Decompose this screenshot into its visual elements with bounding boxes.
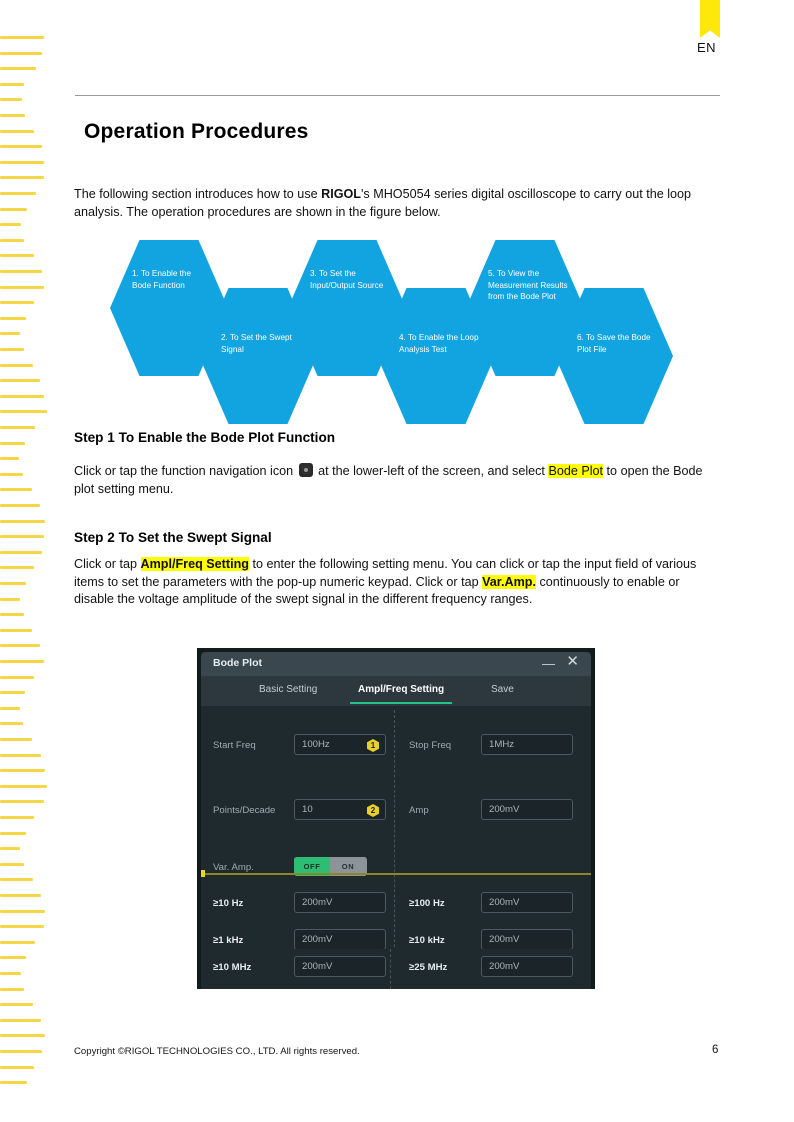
footer-page-number: 6 [712, 1044, 718, 1056]
edge-rule [0, 98, 22, 101]
brand-name: RIGOL [321, 187, 361, 201]
edge-rule [0, 1066, 34, 1069]
edge-rule [0, 878, 33, 881]
edge-rule [0, 239, 24, 242]
edge-rule [0, 785, 47, 788]
range-row-overflow-panel: ≥10 MHz 200mV ≥25 MHz 200mV [201, 949, 591, 989]
input-points-per-decade[interactable]: 10 2 [294, 799, 386, 820]
step2-highlight-ampl-freq-setting: Ampl/Freq Setting [141, 557, 249, 571]
label-range-100hz: ≥100 Hz [409, 898, 445, 909]
flow-step-6-label: 6. To Save the Bode Plot File [577, 332, 657, 355]
edge-rule [0, 410, 47, 413]
label-var-amp: Var. Amp. [213, 862, 254, 873]
step2-heading: Step 2 To Set the Swept Signal [74, 530, 272, 545]
value-range-25mhz: 200mV [489, 961, 519, 972]
edge-rule [0, 332, 20, 335]
edge-rule [0, 566, 34, 569]
language-label: EN [697, 40, 716, 55]
badge-1: 1 [367, 739, 379, 752]
edge-rule [0, 442, 25, 445]
edge-rule [0, 613, 24, 616]
edge-rule [0, 520, 45, 523]
edge-rule [0, 130, 34, 133]
edge-rule [0, 1081, 27, 1084]
edge-rule [0, 769, 45, 772]
label-range-1khz: ≥1 kHz [213, 935, 243, 946]
flow-step-2-label: 2. To Set the Swept Signal [221, 332, 301, 355]
input-range-1khz[interactable]: 200mV [294, 929, 386, 950]
flow-step-3-label: 3. To Set the Input/Output Source [310, 268, 390, 291]
intro-paragraph: The following section introduces how to … [74, 186, 722, 221]
edge-rule [0, 1019, 41, 1022]
edge-rule [0, 956, 26, 959]
value-range-10mhz: 200mV [302, 961, 332, 972]
page-title: Operation Procedures [84, 120, 309, 144]
function-navigation-icon [299, 463, 313, 477]
badge-2: 2 [367, 804, 379, 817]
edge-rule [0, 551, 42, 554]
edge-rule [0, 816, 34, 819]
edge-rule [0, 738, 32, 741]
footer-copyright: Copyright ©RIGOL TECHNOLOGIES CO., LTD. … [74, 1046, 360, 1057]
dialog-title: Bode Plot [213, 657, 262, 669]
edge-rule [0, 754, 41, 757]
edge-rule [0, 707, 20, 710]
edge-rule [0, 629, 32, 632]
flow-step-1-label: 1. To Enable the Bode Function [132, 268, 212, 291]
label-amp: Amp [409, 805, 429, 816]
language-tab-ribbon [700, 0, 720, 38]
step1-paragraph: Click or tap the function navigation ico… [74, 463, 722, 498]
edge-rule [0, 598, 20, 601]
input-range-100hz[interactable]: 200mV [481, 892, 573, 913]
edge-rule [0, 192, 36, 195]
edge-rule [0, 301, 34, 304]
edge-rule [0, 114, 25, 117]
bode-plot-dialog-screenshot: Bode Plot — ✕ Basic Setting Ampl/Freq Se… [197, 648, 595, 989]
bode-plot-dialog: Bode Plot — ✕ Basic Setting Ampl/Freq Se… [201, 652, 591, 985]
dialog-body: Start Freq 100Hz 1 Stop Freq 1MHz Points… [201, 706, 591, 985]
tab-basic-setting[interactable]: Basic Setting [259, 684, 317, 695]
column-divider-bottom [390, 949, 392, 989]
value-points-per-decade: 10 [302, 804, 313, 815]
edge-rule [0, 847, 20, 850]
label-stop-freq: Stop Freq [409, 740, 451, 751]
edge-rule [0, 52, 42, 55]
step2-text-a: Click or tap [74, 557, 141, 571]
edge-rule [0, 473, 23, 476]
edge-rule [0, 988, 24, 991]
edge-rule [0, 504, 40, 507]
flow-step-5-label: 5. To View the Measurement Results from … [488, 268, 568, 303]
step1-text-a: Click or tap the function navigation ico… [74, 464, 297, 478]
input-range-10mhz[interactable]: 200mV [294, 956, 386, 977]
edge-rule [0, 941, 35, 944]
edge-rule [0, 223, 21, 226]
label-points-per-decade: Points/Decade [213, 805, 275, 816]
value-start-freq: 100Hz [302, 739, 330, 750]
edge-rule [0, 161, 44, 164]
edge-rule [0, 286, 44, 289]
label-range-10hz: ≥10 Hz [213, 898, 243, 909]
edge-rule [0, 972, 21, 975]
value-range-1khz: 200mV [302, 934, 332, 945]
edge-rule [0, 894, 41, 897]
edge-rule [0, 395, 44, 398]
edge-rule [0, 644, 40, 647]
step1-highlight-bode-plot: Bode Plot [548, 464, 603, 478]
edge-rule [0, 254, 34, 257]
edge-rule [0, 488, 32, 491]
label-range-25mhz: ≥25 MHz [409, 962, 447, 973]
decorative-edge-rules [0, 0, 60, 1122]
tab-save[interactable]: Save [491, 684, 514, 695]
edge-rule [0, 36, 44, 39]
edge-rule [0, 426, 35, 429]
step1-text-b: at the lower-left of the screen, and sel… [315, 464, 549, 478]
operation-procedure-flow-diagram: 1. To Enable the Bode Function 2. To Set… [110, 236, 710, 396]
label-range-10khz: ≥10 kHz [409, 935, 445, 946]
value-amp: 200mV [489, 804, 519, 815]
edge-rule [0, 722, 23, 725]
edge-rule [0, 925, 44, 928]
step2-highlight-var-amp: Var.Amp. [482, 575, 536, 589]
intro-text-a: The following section introduces how to … [74, 187, 321, 201]
input-start-freq[interactable]: 100Hz 1 [294, 734, 386, 755]
label-start-freq: Start Freq [213, 740, 256, 751]
dialog-titlebar: Bode Plot — ✕ [201, 652, 591, 676]
edge-rule [0, 83, 24, 86]
step2-paragraph: Click or tap Ampl/Freq Setting to enter … [74, 556, 722, 609]
edge-rule [0, 1050, 42, 1053]
input-stop-freq[interactable]: 1MHz [481, 734, 573, 755]
edge-rule [0, 208, 27, 211]
close-icon[interactable]: ✕ [566, 654, 579, 669]
edge-rule [0, 457, 19, 460]
value-range-10hz: 200mV [302, 897, 332, 908]
edge-rule [0, 364, 33, 367]
value-range-100hz: 200mV [489, 897, 519, 908]
edge-rule [0, 910, 45, 913]
input-range-25mhz[interactable]: 200mV [481, 956, 573, 977]
edge-rule [0, 676, 34, 679]
edge-rule [0, 1003, 33, 1006]
step1-heading: Step 1 To Enable the Bode Plot Function [74, 430, 335, 445]
value-stop-freq: 1MHz [489, 739, 514, 750]
minimize-icon[interactable]: — [542, 656, 555, 671]
edge-rule [0, 379, 40, 382]
flow-step-4-label: 4. To Enable the Loop Analysis Test [399, 332, 479, 355]
edge-rule [0, 800, 44, 803]
edge-rule [0, 582, 26, 585]
dialog-tab-bar: Basic Setting Ampl/Freq Setting Save [201, 676, 591, 706]
column-divider [394, 710, 396, 982]
edge-rule [0, 67, 36, 70]
edge-rule [0, 691, 25, 694]
edge-rule [0, 176, 44, 179]
edge-rule [0, 832, 26, 835]
channel-1-trace-line [201, 873, 591, 875]
channel-1-marker [201, 870, 205, 877]
input-range-10hz[interactable]: 200mV [294, 892, 386, 913]
label-range-10mhz: ≥10 MHz [213, 962, 251, 973]
edge-rule [0, 863, 24, 866]
header-divider [75, 95, 720, 96]
edge-rule [0, 145, 42, 148]
edge-rule [0, 1034, 45, 1037]
input-amp[interactable]: 200mV [481, 799, 573, 820]
tab-ampl-freq-setting[interactable]: Ampl/Freq Setting [358, 684, 444, 695]
edge-rule [0, 270, 42, 273]
edge-rule [0, 535, 44, 538]
edge-rule [0, 660, 44, 663]
value-range-10khz: 200mV [489, 934, 519, 945]
edge-rule [0, 348, 24, 351]
input-range-10khz[interactable]: 200mV [481, 929, 573, 950]
edge-rule [0, 317, 26, 320]
